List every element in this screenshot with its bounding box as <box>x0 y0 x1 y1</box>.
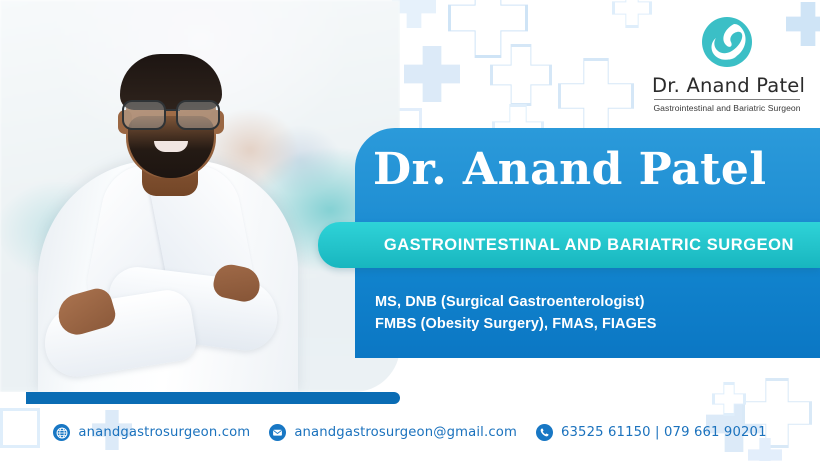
brand-logo[interactable]: Dr. Anand Patel Gastrointestinal and Bar… <box>652 16 802 113</box>
credentials: MS, DNB (Surgical Gastroenterologist) FM… <box>375 291 795 335</box>
contact-website[interactable]: anandgastrosurgeon.com <box>53 424 250 441</box>
specialty-bar: GASTROINTESTINAL AND BARIATRIC SURGEON <box>318 222 820 268</box>
globe-icon <box>53 424 70 441</box>
accent-bar <box>26 392 400 404</box>
logo-divider <box>654 99 800 100</box>
logo-subtitle: Gastrointestinal and Bariatric Surgeon <box>652 103 802 113</box>
stomach-swirl-logo-icon <box>701 16 753 68</box>
cross-solid-icon <box>404 46 460 102</box>
credentials-line-1: MS, DNB (Surgical Gastroenterologist) <box>375 291 795 313</box>
specialty-text: GASTROINTESTINAL AND BARIATRIC SURGEON <box>384 236 820 255</box>
eyeglasses-icon <box>120 100 222 126</box>
contact-email[interactable]: anandgastrosurgeon@gmail.com <box>269 424 517 441</box>
contact-footer: anandgastrosurgeon.com anandgastrosurgeo… <box>0 404 820 461</box>
doctor-photo <box>0 0 400 392</box>
envelope-icon <box>269 424 286 441</box>
contact-phone[interactable]: 63525 61150 | 079 661 90201 <box>536 424 767 441</box>
phone-text: 63525 61150 | 079 661 90201 <box>561 425 767 440</box>
doctor-profile-banner: Dr. Anand Patel MS, DNB (Surgical Gastro… <box>0 0 820 461</box>
doctor-name: Dr. Anand Patel <box>373 144 803 195</box>
email-text: anandgastrosurgeon@gmail.com <box>294 425 517 440</box>
cross-outline-icon <box>612 0 652 28</box>
doctor-figure <box>38 37 298 392</box>
website-text: anandgastrosurgeon.com <box>78 425 250 440</box>
cross-outline-icon <box>490 44 552 106</box>
phone-icon <box>536 424 553 441</box>
cross-outline-icon <box>558 58 634 134</box>
logo-name: Dr. Anand Patel <box>652 74 802 97</box>
credentials-line-2: FMBS (Obesity Surgery), FMAS, FIAGES <box>375 313 795 335</box>
